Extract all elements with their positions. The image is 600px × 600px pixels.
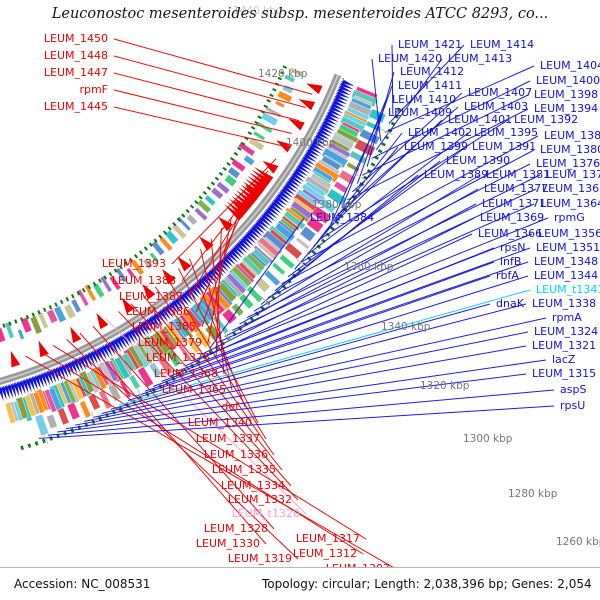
gene-label[interactable]: LEUM_1317 bbox=[296, 533, 360, 544]
gene-label[interactable]: LEUM_1412 bbox=[400, 66, 464, 77]
gene-label[interactable]: LEUM_1420 bbox=[378, 53, 442, 64]
gene-label[interactable]: LEUM_1391 bbox=[472, 141, 536, 152]
gene-label[interactable]: LEUM_1385 bbox=[132, 321, 196, 332]
gene-label[interactable]: LEUM_1383 bbox=[544, 130, 600, 141]
gene-label[interactable]: LEUM_1348 bbox=[534, 256, 598, 267]
gene-label[interactable]: LEUM_1366 bbox=[478, 228, 542, 239]
gene-label[interactable]: LEUM_1399 bbox=[404, 141, 468, 152]
gene-label[interactable]: LEUM_1445 bbox=[44, 101, 108, 112]
gene-label[interactable]: LEUM_1410 bbox=[392, 94, 456, 105]
gene-label[interactable]: LEUM_1319 bbox=[228, 553, 292, 564]
gene-label[interactable]: LEUM_1409 bbox=[388, 107, 452, 118]
gene-label[interactable]: LEUM_1321 bbox=[532, 340, 596, 351]
gene-label[interactable]: LEUM_t1341 bbox=[536, 284, 600, 295]
coordinate-tick-label: 1420 kbp bbox=[258, 69, 307, 80]
gene-label[interactable]: infB bbox=[500, 256, 521, 267]
gene-label[interactable]: LEUM_1411 bbox=[398, 80, 462, 91]
gene-label[interactable]: LEUM_1332 bbox=[228, 494, 292, 505]
gene-label[interactable]: LEUM_1386 bbox=[126, 306, 190, 317]
gene-label[interactable]: LEUM_1414 bbox=[470, 39, 534, 50]
gene-label[interactable]: LEUM_1398 bbox=[534, 89, 598, 100]
gene-label[interactable]: rpmG bbox=[554, 212, 585, 223]
gene-label[interactable]: dnaK bbox=[496, 298, 524, 309]
status-bar: Accession: NC_008531 Topology: circular;… bbox=[0, 567, 600, 600]
gene-label[interactable]: LEUM_1371 bbox=[482, 198, 546, 209]
gene-label[interactable]: LEUM_1403 bbox=[464, 101, 528, 112]
gene-label[interactable]: LEUM_1421 bbox=[398, 39, 462, 50]
gene-label[interactable]: LEUM_1375 bbox=[146, 352, 210, 363]
gene-label[interactable]: LEUM_1400 bbox=[536, 75, 600, 86]
gene-label[interactable]: LEUM_1450 bbox=[44, 33, 108, 44]
gene-label[interactable]: LEUM_1402 bbox=[408, 127, 472, 138]
gene-label[interactable]: LEUM_1401 bbox=[448, 114, 512, 125]
gene-label[interactable]: lacZ bbox=[552, 354, 575, 365]
gene-label[interactable]: LEUM_1387 bbox=[119, 291, 183, 302]
gene-label[interactable]: LEUM_1413 bbox=[448, 53, 512, 64]
coordinate-tick-label: 1300 kbp bbox=[463, 434, 512, 445]
gene-label[interactable]: LEUM_1370 bbox=[546, 169, 600, 180]
gene-label[interactable]: LEUM_1328 bbox=[204, 523, 268, 534]
genome-map-viewer: Leuconostoc mesenteroides subsp. mesente… bbox=[0, 0, 600, 600]
page-title: Leuconostoc mesenteroides subsp. mesente… bbox=[0, 6, 600, 22]
gene-label[interactable]: LEUM_1395 bbox=[474, 127, 538, 138]
gene-label[interactable]: LEUM_1324 bbox=[534, 326, 598, 337]
gene-label[interactable]: rpsU bbox=[560, 400, 585, 411]
gene-label[interactable]: LEUM_1338 bbox=[532, 298, 596, 309]
gene-label[interactable]: LEUM_1404 bbox=[540, 60, 600, 71]
gene-label[interactable]: LEUM_1448 bbox=[44, 50, 108, 61]
accession-value: Accession: NC_008531 bbox=[14, 577, 150, 591]
gene-label[interactable]: LEUM_1380 bbox=[540, 144, 600, 155]
gene-label[interactable]: LEUM_1393 bbox=[102, 258, 166, 269]
gene-label[interactable]: LEUM_1315 bbox=[532, 368, 596, 379]
gene-label[interactable]: rpmA bbox=[552, 312, 582, 323]
topology-length-genes-value: Topology: circular; Length: 2,038,396 bp… bbox=[262, 577, 592, 591]
coordinate-tick-label: 1400 kbp bbox=[286, 138, 335, 149]
gene-label[interactable]: LEUM_1351 bbox=[536, 242, 600, 253]
gene-label[interactable]: LEUM_1337 bbox=[196, 433, 260, 444]
gene-label[interactable]: LEUM_1356 bbox=[538, 228, 600, 239]
gene-label[interactable]: LEUM_1340 bbox=[188, 417, 252, 428]
coordinate-tick-label: 1280 kbp bbox=[508, 489, 557, 500]
coordinate-tick-label: 1360 kbp bbox=[344, 262, 393, 273]
gene-label[interactable]: aspS bbox=[560, 384, 586, 395]
gene-label[interactable]: rpsN bbox=[500, 242, 525, 253]
gene-label[interactable]: rpmF bbox=[79, 84, 108, 95]
gene-label[interactable]: rbfA bbox=[496, 270, 519, 281]
gene-label[interactable]: LEUM_1334 bbox=[221, 480, 285, 491]
gene-label[interactable]: LEUM_t1320 bbox=[232, 508, 300, 519]
coordinate-tick-label: 1380 kbp bbox=[312, 200, 361, 211]
gene-label[interactable]: LEUM_1369 bbox=[480, 212, 544, 223]
gene-label[interactable]: LEUM_1377 bbox=[484, 183, 548, 194]
gene-label[interactable]: LEUM_1407 bbox=[468, 87, 532, 98]
gene-label[interactable]: LEUM_1389 bbox=[424, 169, 488, 180]
gene-label[interactable]: LEUM_1365 bbox=[162, 384, 226, 395]
gene-label[interactable]: LEUM_1384 bbox=[310, 212, 374, 223]
gene-label[interactable]: LEUM_1392 bbox=[514, 114, 578, 125]
gene-label[interactable]: LEUM_1344 bbox=[534, 270, 598, 281]
gene-label[interactable]: LEUM_1368 bbox=[154, 368, 218, 379]
gene-label[interactable]: LEUM_1336 bbox=[204, 449, 268, 460]
gene-label[interactable]: LEUM_1390 bbox=[446, 155, 510, 166]
gene-label[interactable]: LEUM_1381 bbox=[486, 169, 550, 180]
coordinate-tick-label: 1260 kbp bbox=[556, 537, 600, 548]
gene-label[interactable]: LEUM_1312 bbox=[293, 548, 357, 559]
gene-label[interactable]: LEUM_1388 bbox=[112, 275, 176, 286]
gene-label[interactable]: LEUM_1367 bbox=[542, 183, 600, 194]
gene-label[interactable]: LEUM_1364 bbox=[540, 198, 600, 209]
gene-label[interactable]: def bbox=[221, 401, 239, 412]
coordinate-tick-label: 1340 kbp bbox=[381, 322, 430, 333]
coordinate-tick-label: 1320 kbp bbox=[420, 381, 469, 392]
gene-label[interactable]: LEUM_1379 bbox=[138, 337, 202, 348]
gene-label[interactable]: LEUM_1447 bbox=[44, 67, 108, 78]
gene-label[interactable]: LEUM_1330 bbox=[196, 538, 260, 549]
gene-label[interactable]: LEUM_1335 bbox=[212, 464, 276, 475]
